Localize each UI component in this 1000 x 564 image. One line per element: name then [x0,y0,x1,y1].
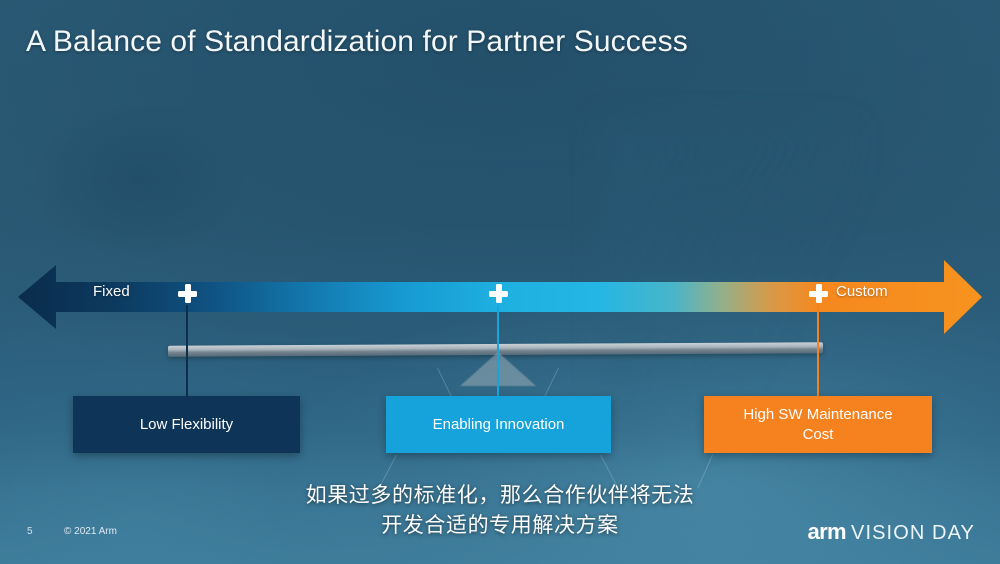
page-number: 5 [27,526,33,537]
brand-lockup: armVISION DAY [807,519,975,545]
plus-marker-icon-right [809,284,828,303]
callout-label: High SW Maintenance Cost [743,405,892,445]
copyright-notice: © 2021 Arm [64,526,117,537]
spectrum-label-custom: Custom [836,283,888,300]
callout-label: Low Flexibility [140,415,233,435]
callout-box-high-sw-maintenance-cost[interactable]: High SW Maintenance Cost [704,396,932,453]
callout-label-line1: High SW Maintenance [743,406,892,423]
connector-line-high-sw-maintenance [817,305,819,397]
arm-logo-wordmark: arm [807,519,846,544]
spectrum-label-fixed: Fixed [93,283,130,300]
callout-label-line2: Cost [803,426,834,443]
slide-canvas: A Balance of Standardization for Partner… [0,0,1000,564]
connector-line-enabling-innovation [497,305,499,397]
plus-marker-icon-middle [489,284,508,303]
suspension-string [543,368,559,399]
callout-box-enabling-innovation[interactable]: Enabling Innovation [386,396,611,453]
background-glow-left [30,100,250,260]
plus-marker-icon-left [178,284,197,303]
callout-box-low-flexibility[interactable]: Low Flexibility [73,396,300,453]
callout-label: Enabling Innovation [433,415,565,435]
connector-line-low-flexibility [186,305,188,397]
suspension-string [437,368,453,399]
slide-title: A Balance of Standardization for Partner… [26,25,688,59]
subtitle-line-1: 如果过多的标准化，那么合作伙伴将无法 [0,481,1000,511]
event-name: VISION DAY [851,522,975,544]
